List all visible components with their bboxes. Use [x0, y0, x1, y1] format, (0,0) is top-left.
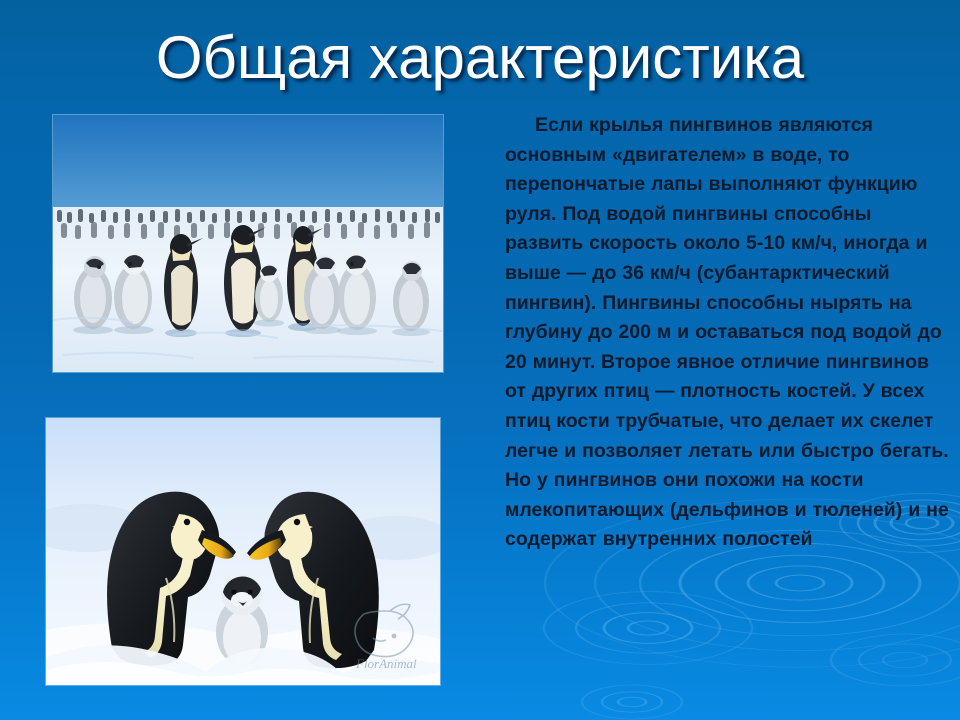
slide-body-text: Если крылья пингвинов являются основным …: [505, 111, 953, 555]
watermark-text: FlorAnimal: [355, 656, 417, 671]
penguin-pair-illustration: FlorAnimal: [46, 418, 440, 685]
slide-title: Общая характеристика: [0, 22, 960, 94]
presentation-slide: Общая характеристика: [0, 0, 960, 720]
penguin-colony-illustration: [53, 115, 443, 372]
penguin-colony-photo: [53, 115, 443, 372]
penguin-pair-photo: FlorAnimal: [46, 418, 440, 685]
